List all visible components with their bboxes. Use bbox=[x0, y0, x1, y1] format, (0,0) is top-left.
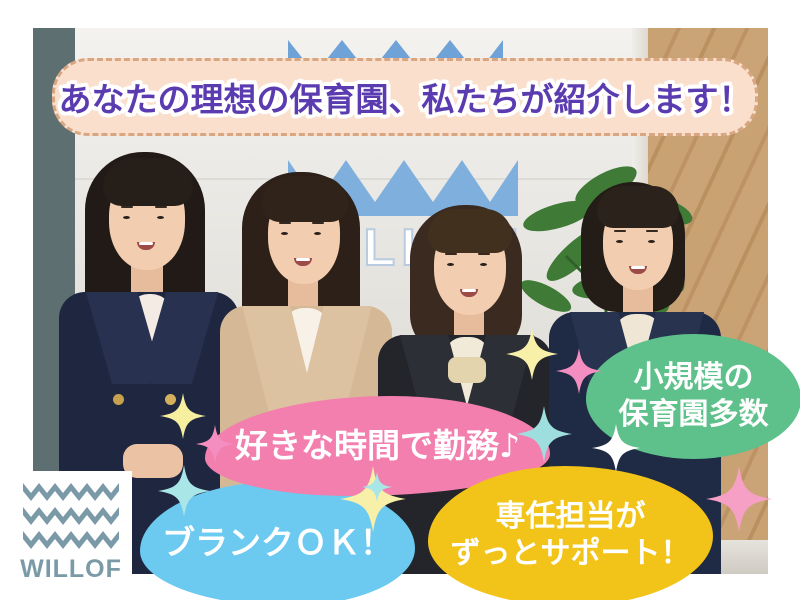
sparkle-cyan-1 bbox=[158, 465, 210, 517]
sparkle-pink-2 bbox=[556, 348, 602, 394]
headline-banner: あなたの理想の保育園、私たちが紹介します！ bbox=[52, 58, 758, 136]
blob-green-line-2: 保育園多数 bbox=[619, 397, 769, 434]
willof-logo: WILLOF bbox=[10, 471, 132, 591]
chevron-icon bbox=[23, 503, 119, 525]
sparkle-white-1 bbox=[592, 424, 640, 472]
chevron-icon bbox=[23, 527, 119, 549]
headline-text: あなたの理想の保育園、私たちが紹介します！ bbox=[59, 73, 752, 121]
logo-brand-text: WILLOF bbox=[20, 555, 122, 584]
sparkle-cyan-3 bbox=[362, 472, 392, 502]
blob-pink-line-1: 好きな時間で勤務♪ bbox=[235, 426, 520, 466]
poster-canvas: WILLOF bbox=[0, 0, 800, 600]
sparkle-pink-3 bbox=[706, 466, 772, 532]
blob-yellow-line-1: 専任担当が bbox=[496, 499, 646, 536]
sparkle-pink-1 bbox=[196, 425, 234, 463]
blob-yellow: 専任担当が ずっとサポート！ bbox=[428, 466, 713, 600]
sparkle-cyan-2 bbox=[516, 406, 572, 462]
blob-yellow-line-2: ずっとサポート！ bbox=[451, 536, 691, 573]
chevron-icon bbox=[23, 479, 119, 501]
blob-green-line-1: 小規模の bbox=[634, 360, 754, 397]
sparkle-cream-1 bbox=[506, 328, 558, 380]
